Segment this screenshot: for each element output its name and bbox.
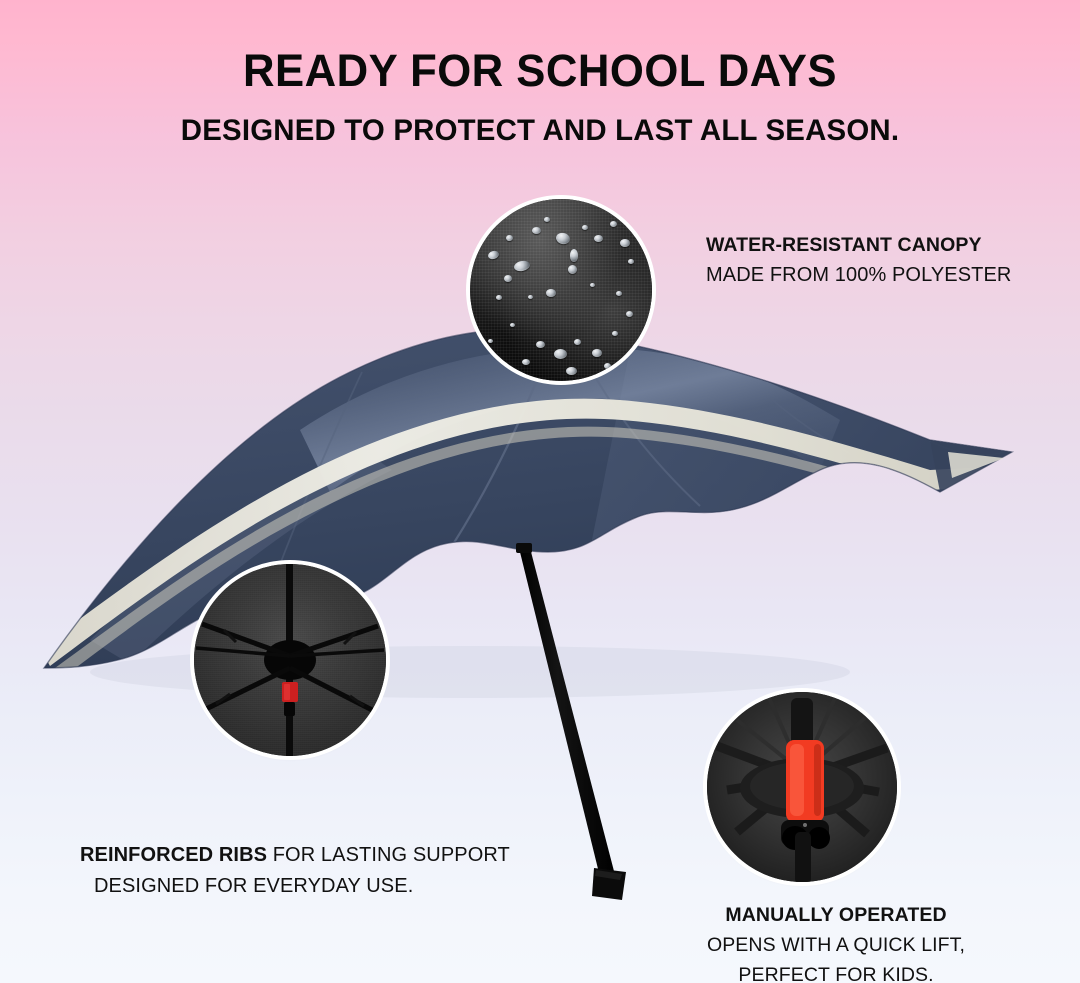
slider-hub-diagram xyxy=(707,692,897,882)
callout-manually-operated: MANUALLY OPERATED OPENS WITH A QUICK LIF… xyxy=(676,900,996,983)
inset-water-droplets xyxy=(470,199,652,381)
callout-headline: MANUALLY OPERATED xyxy=(676,900,996,930)
callout-headline: WATER-RESISTANT CANOPY xyxy=(706,230,1011,260)
umbrella-illustration xyxy=(0,0,1080,983)
callout-body-line2: DESIGNED FOR EVERYDAY USE. xyxy=(80,871,510,902)
callout-body-line1: OPENS WITH A QUICK LIFT, xyxy=(676,930,996,960)
water-droplets-group xyxy=(470,199,652,381)
callout-body-line1: FOR LASTING SUPPORT xyxy=(267,844,510,866)
callout-body: MADE FROM 100% POLYESTER xyxy=(706,260,1011,290)
inset-reinforced-ribs xyxy=(194,564,386,756)
rib-frame-diagram xyxy=(194,564,386,756)
callout-body-line2: PERFECT FOR KIDS. xyxy=(676,960,996,983)
inset-manual-slider xyxy=(707,692,897,882)
callout-water-resistant-canopy: WATER-RESISTANT CANOPY MADE FROM 100% PO… xyxy=(706,230,1011,290)
callout-reinforced-ribs: REINFORCED RIBS FOR LASTING SUPPORT DESI… xyxy=(80,840,510,902)
callout-headline: REINFORCED RIBS xyxy=(80,844,267,866)
infographic-canvas: READY FOR SCHOOL DAYS DESIGNED TO PROTEC… xyxy=(0,0,1080,983)
